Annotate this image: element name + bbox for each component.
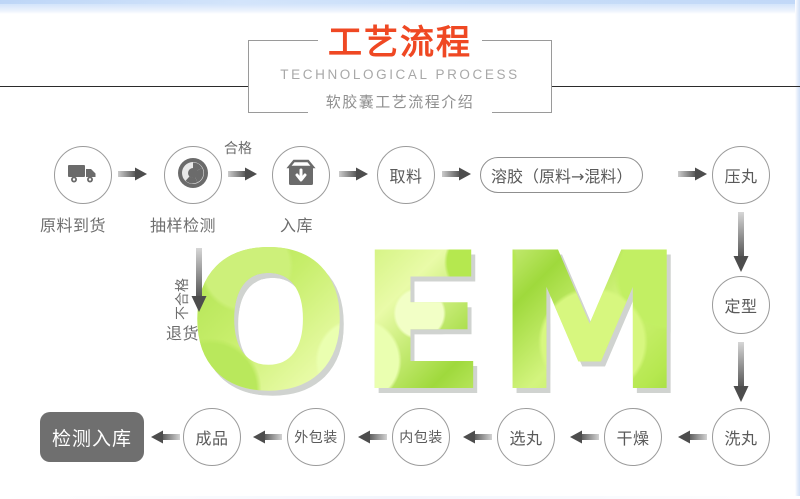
node-label-sol-gel: 溶胶（原料→混料）	[491, 163, 632, 187]
node-drying[interactable]: 干燥	[604, 408, 662, 466]
node-label-pill-sorting: 选丸	[509, 425, 542, 449]
node-label-pill-washing: 洗丸	[724, 425, 757, 449]
caption-warehousing: 入库	[280, 212, 313, 236]
branch-label-fail: 不合格	[172, 278, 192, 320]
node-pill-pressing[interactable]: 压丸	[712, 146, 770, 204]
arrow-drying-to-sorting	[565, 429, 599, 445]
inbox-down-arrow-icon	[286, 158, 316, 192]
inspection-wheel-icon	[176, 156, 210, 194]
arrow-sorting-to-inner-packaging	[458, 429, 492, 445]
arrow-pressing-to-shaping	[732, 212, 750, 274]
node-label-pill-pressing: 压丸	[724, 163, 757, 187]
arrow-finished-to-inspection-warehousing	[146, 429, 180, 445]
node-sol-gel[interactable]: 溶胶（原料→混料）	[480, 157, 643, 193]
arrow-inspection-to-warehousing	[228, 166, 258, 182]
arrow-outer-packaging-to-finished	[248, 429, 282, 445]
node-finished-product[interactable]: 成品	[183, 408, 241, 466]
truck-icon	[67, 162, 99, 188]
node-warehousing[interactable]	[272, 146, 330, 204]
arrow-inner-to-outer-packaging	[353, 429, 387, 445]
caption-raw-material-arrival: 原料到货	[40, 212, 106, 236]
node-sampling-inspection[interactable]	[164, 146, 222, 204]
node-inspection-warehousing[interactable]: 检测入库	[40, 412, 144, 462]
node-label-inner-packaging: 内包装	[399, 427, 443, 447]
caption-return-goods: 退货	[166, 320, 199, 344]
flow-diagram: 原料到货 抽样检测 合格	[0, 0, 800, 499]
node-label-inspection-warehousing: 检测入库	[52, 424, 132, 451]
process-flow-infographic: 工艺流程 TECHNOLOGICAL PROCESS 软胶囊工艺流程介绍 OEM…	[0, 0, 800, 499]
node-material-picking[interactable]: 取料	[377, 146, 435, 204]
node-raw-material-arrival[interactable]	[54, 146, 112, 204]
node-label-shaping: 定型	[724, 293, 757, 317]
arrow-fail-to-return	[190, 248, 208, 314]
node-pill-washing[interactable]: 洗丸	[712, 408, 770, 466]
node-label-finished-product: 成品	[195, 425, 228, 449]
arrow-warehousing-to-picking	[339, 166, 369, 182]
arrow-washing-to-drying	[673, 429, 707, 445]
node-inner-packaging[interactable]: 内包装	[392, 408, 450, 466]
node-outer-packaging[interactable]: 外包装	[287, 408, 345, 466]
node-label-outer-packaging: 外包装	[294, 427, 338, 447]
node-label-drying: 干燥	[616, 425, 649, 449]
arrow-arrival-to-inspection	[118, 166, 148, 182]
node-pill-sorting[interactable]: 选丸	[497, 408, 555, 466]
caption-sampling-inspection: 抽样检测	[150, 212, 216, 236]
arrow-picking-to-solgel	[442, 166, 472, 182]
arrow-solgel-to-pressing	[678, 166, 708, 182]
branch-label-pass: 合格	[224, 138, 252, 158]
arrow-shaping-to-washing	[732, 342, 750, 404]
node-label-material-picking: 取料	[389, 163, 422, 187]
node-shaping[interactable]: 定型	[712, 276, 770, 334]
